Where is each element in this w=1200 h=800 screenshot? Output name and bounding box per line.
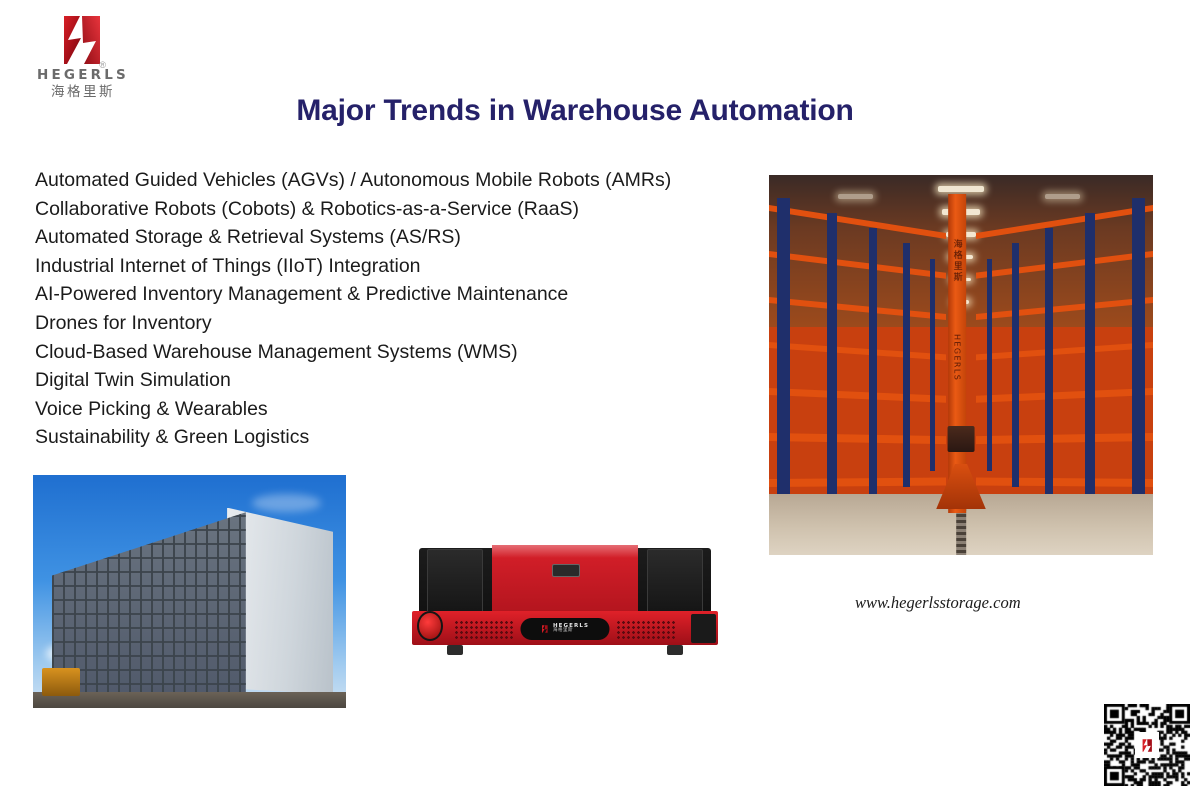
- rack-upright: [987, 259, 992, 472]
- crane-label-chinese: 海格里斯: [951, 239, 964, 283]
- rack-upright: [827, 213, 838, 517]
- list-item: Drones for Inventory: [35, 309, 755, 338]
- rack-upright: [1045, 228, 1053, 502]
- rack-upright: [903, 243, 910, 486]
- crane-label-english: HEGERLS: [953, 334, 962, 381]
- robot-sensor-icon: [552, 564, 579, 578]
- robot-wheel: [667, 645, 683, 654]
- list-item: Automated Guided Vehicles (AGVs) / Auton…: [35, 166, 755, 195]
- construction-ground: [33, 692, 346, 708]
- list-item: Sustainability & Green Logistics: [35, 423, 755, 452]
- rack-upright: [930, 259, 935, 472]
- rack-upright: [777, 198, 790, 532]
- robot-vent-grille-right: [616, 620, 676, 638]
- hegerls-h-mark-icon: [541, 623, 550, 635]
- robot-badge-name-chinese: 海格里斯: [553, 629, 589, 634]
- robot-conveyor-belt-right: [647, 549, 703, 617]
- crane-lift-carriage: [948, 426, 975, 453]
- cloud-shape: [252, 494, 321, 513]
- rack-beam: [976, 477, 1153, 487]
- list-item: Automated Storage & Retrieval Systems (A…: [35, 223, 755, 252]
- list-item: Industrial Internet of Things (IIoT) Int…: [35, 252, 755, 281]
- robot-wheel: [447, 645, 463, 654]
- rack-upright: [1012, 243, 1019, 486]
- ceiling-light-icon: [838, 194, 873, 199]
- list-item: Collaborative Robots (Cobots) & Robotics…: [35, 195, 755, 224]
- brand-logo[interactable]: ® HEGERLS 海格里斯: [18, 14, 148, 102]
- robot-vent-grille-left: [454, 620, 514, 638]
- ceiling-light-icon: [938, 186, 984, 192]
- excavator-icon: [42, 668, 80, 696]
- rack-beam: [769, 477, 946, 487]
- robot-conveyor-belt-left: [427, 549, 483, 617]
- ceiling-light-icon: [1045, 194, 1080, 199]
- page-title: Major Trends in Warehouse Automation: [0, 94, 1150, 128]
- rack-upright: [1132, 198, 1145, 532]
- robot-deck-highlight: [492, 545, 638, 558]
- robot-control-panel[interactable]: [691, 614, 716, 643]
- rack-upright: [1085, 213, 1096, 517]
- website-url[interactable]: www.hegerlsstorage.com: [855, 593, 1021, 613]
- list-item: AI-Powered Inventory Management & Predic…: [35, 280, 755, 309]
- slide-canvas: ® HEGERLS 海格里斯 Major Trends in Warehouse…: [0, 0, 1200, 800]
- qr-code[interactable]: [1104, 704, 1190, 786]
- hegerls-h-mark-icon: ®: [54, 14, 112, 66]
- robot-brand-badge: HEGERLS 海格里斯: [520, 618, 609, 640]
- registered-trademark-mark: ®: [99, 60, 106, 70]
- hegerls-h-mark-icon: [1140, 737, 1155, 754]
- shuttle-robot-photo: HEGERLS 海格里斯: [406, 524, 724, 656]
- qr-center-logo: [1135, 732, 1159, 758]
- brand-wordmark: HEGERLS: [18, 68, 148, 82]
- warehouse-aisle-photo: 海格里斯 HEGERLS: [769, 175, 1153, 555]
- list-item: Cloud-Based Warehouse Management Systems…: [35, 338, 755, 367]
- clad-rack-building-photo: [33, 475, 346, 708]
- list-item: Digital Twin Simulation: [35, 366, 755, 395]
- trend-list: Automated Guided Vehicles (AGVs) / Auton…: [35, 166, 755, 452]
- rack-upright: [869, 228, 877, 502]
- list-item: Voice Picking & Wearables: [35, 395, 755, 424]
